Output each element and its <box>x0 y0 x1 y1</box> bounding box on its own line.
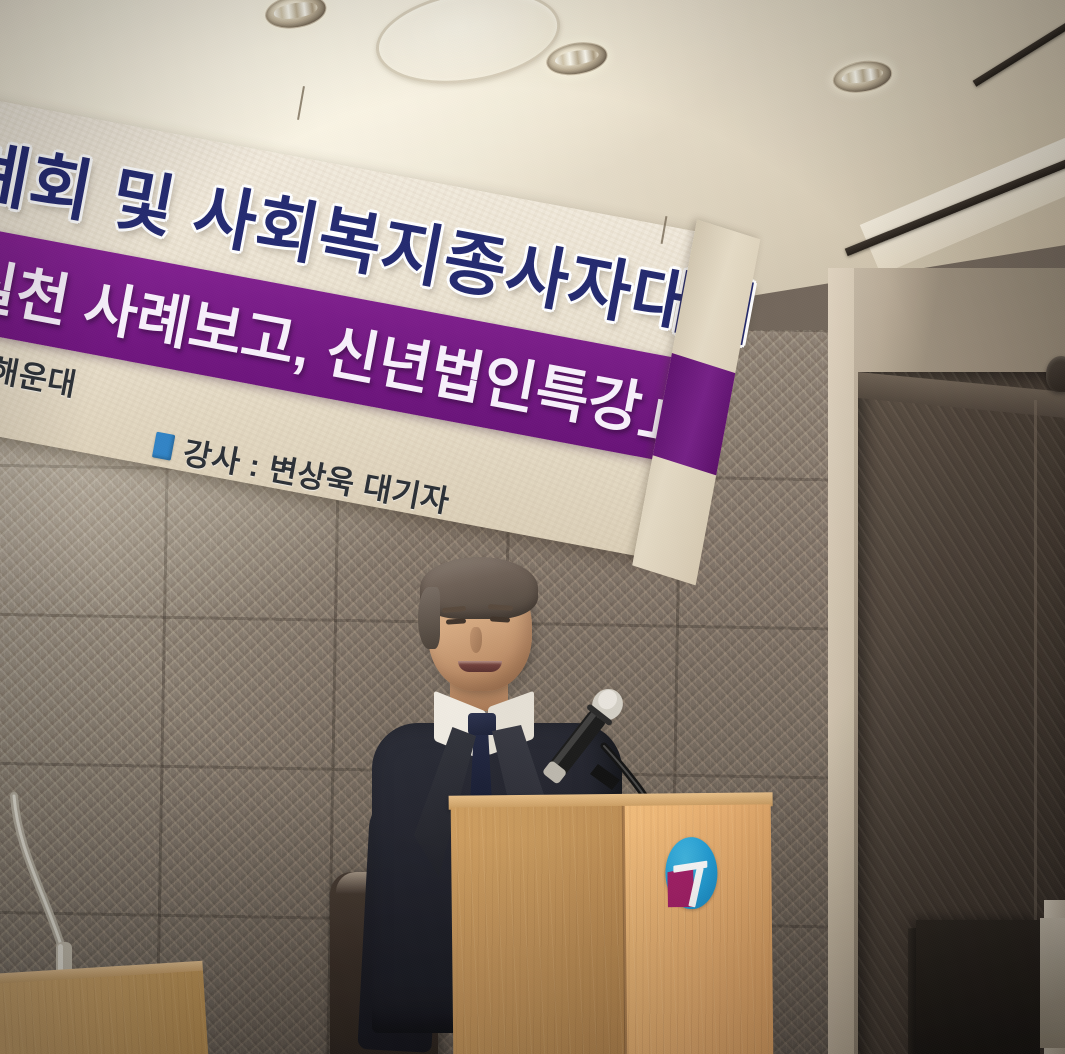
gooseneck-microphone <box>8 792 74 992</box>
lectern-panel-left <box>451 806 626 1054</box>
chair-right <box>916 920 1040 1054</box>
secondary-lectern <box>0 961 209 1054</box>
logo-seven-mark <box>673 863 707 907</box>
lectern-wood-grain <box>0 971 209 1054</box>
speaker-necktie-knot <box>468 713 496 735</box>
ceiling-downlight-icon <box>544 38 610 80</box>
ceiling-trim-ring <box>369 0 567 96</box>
speaker-sideburn <box>418 587 440 649</box>
secondary-lectern-face <box>0 971 209 1054</box>
right-wall-corner-edge <box>828 268 854 1054</box>
hanwha-resort-logo-icon <box>665 837 718 910</box>
ceiling-speaker-icon <box>1046 356 1065 392</box>
speaker-mouth <box>458 661 502 672</box>
speaker-nose <box>470 627 482 653</box>
banner-lecturer-item: 강사 : 변상욱 대기자 <box>150 422 453 521</box>
ceiling-downlight-icon <box>830 57 894 97</box>
banner-lecturer-label: 강사 : 변상욱 대기자 <box>180 427 454 521</box>
lectern-wood-grain <box>451 806 626 1054</box>
event-photo-scene: 안 신년하례회 및 사회복지종사자대회 장소 : 한화리조트 해운대 강사 : … <box>0 0 1065 1054</box>
ceiling-downlight-icon <box>263 0 329 33</box>
paper-sheet <box>1040 918 1065 1048</box>
blue-square-bullet-icon <box>152 431 175 460</box>
wooden-lectern <box>451 798 774 1054</box>
